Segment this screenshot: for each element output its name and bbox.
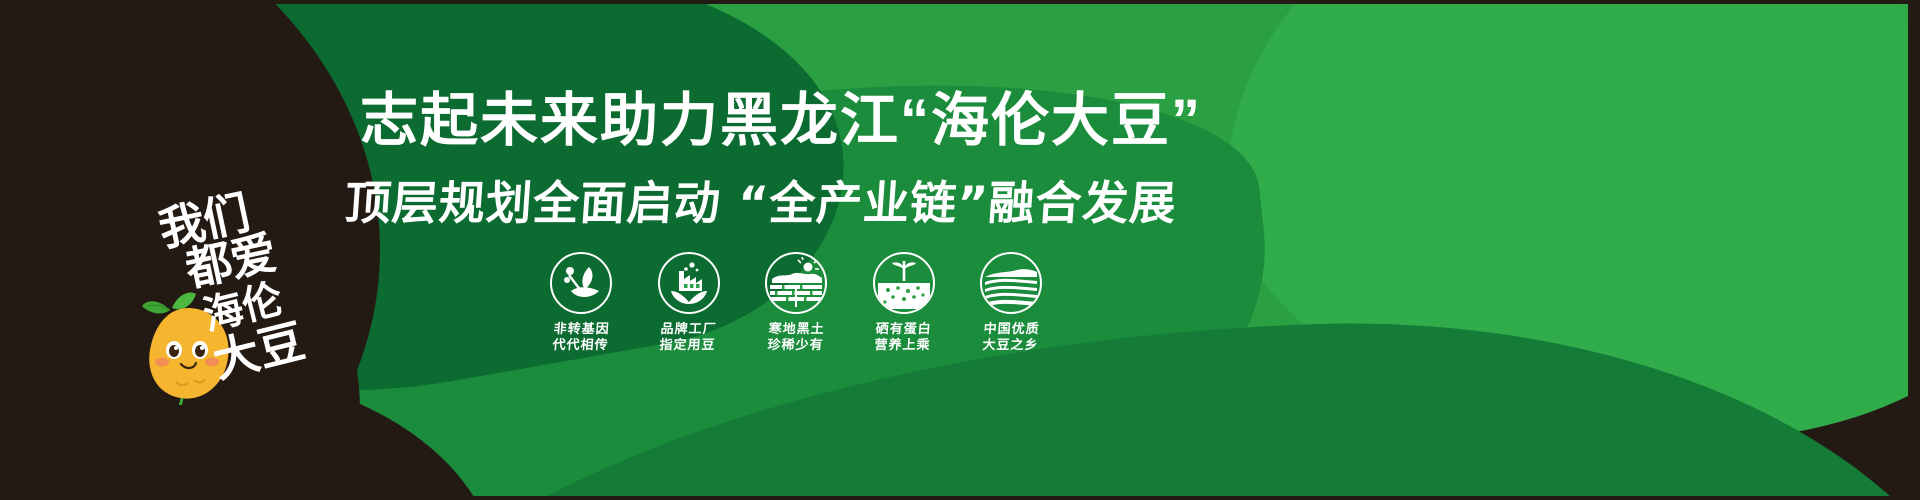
feature-badge-selenium-protein: 硒有蛋白 营养上乘 bbox=[859, 252, 949, 355]
headline-title: 志起未来助力黑龙江“海伦大豆” bbox=[360, 92, 1260, 150]
feature-label-line1: 品牌工厂 bbox=[660, 322, 717, 338]
border-edge-bottom bbox=[0, 496, 1920, 500]
subheadline-text: 顶层规划全面启动 “全产业链”融合发展 bbox=[343, 180, 1306, 226]
soybean-promo-banner: 志起未来助力黑龙江“海伦大豆” 顶层规划全面启动 “全产业链”融合发展 非转基因… bbox=[0, 0, 1920, 500]
leaf-shape-right-tip bbox=[1203, 0, 1920, 479]
border-edge-right bbox=[1908, 0, 1920, 500]
feature-label-line2: 珍稀少有 bbox=[767, 338, 824, 354]
feature-badge-black-soil: 寒地黑土 珍稀少有 bbox=[751, 252, 841, 355]
black-soil-icon bbox=[765, 252, 827, 314]
feature-badge-brand-factory: 品牌工厂 指定用豆 bbox=[644, 252, 734, 355]
feature-label-line1: 非转基因 bbox=[553, 322, 610, 338]
brand-logo-lockup: 我们 都爱 海伦 大豆 bbox=[130, 175, 360, 405]
border-edge-top bbox=[0, 0, 1920, 4]
leaf-shape-main-body bbox=[146, 0, 1915, 500]
farmland-icon bbox=[980, 252, 1042, 314]
feature-label-line2: 代代相传 bbox=[552, 338, 609, 354]
feature-label-line2: 大豆之乡 bbox=[982, 338, 1039, 354]
factory-lotus-icon bbox=[658, 252, 720, 314]
feature-label-line1: 中国优质 bbox=[983, 322, 1040, 338]
feature-label-line1: 硒有蛋白 bbox=[875, 322, 932, 338]
feature-label-line1: 寒地黑土 bbox=[768, 322, 825, 338]
feature-label-line2: 指定用豆 bbox=[659, 338, 716, 354]
feature-badge-row: 非转基因 代代相传 品牌工厂 指定用豆 bbox=[536, 252, 1056, 372]
feature-label-line2: 营养上乘 bbox=[874, 338, 931, 354]
selenium-sprout-icon bbox=[873, 252, 935, 314]
soybean-pod-icon bbox=[550, 252, 612, 314]
feature-badge-non-gmo: 非转基因 代代相传 bbox=[536, 252, 626, 355]
feature-badge-quality-hometown: 中国优质 大豆之乡 bbox=[966, 252, 1056, 355]
